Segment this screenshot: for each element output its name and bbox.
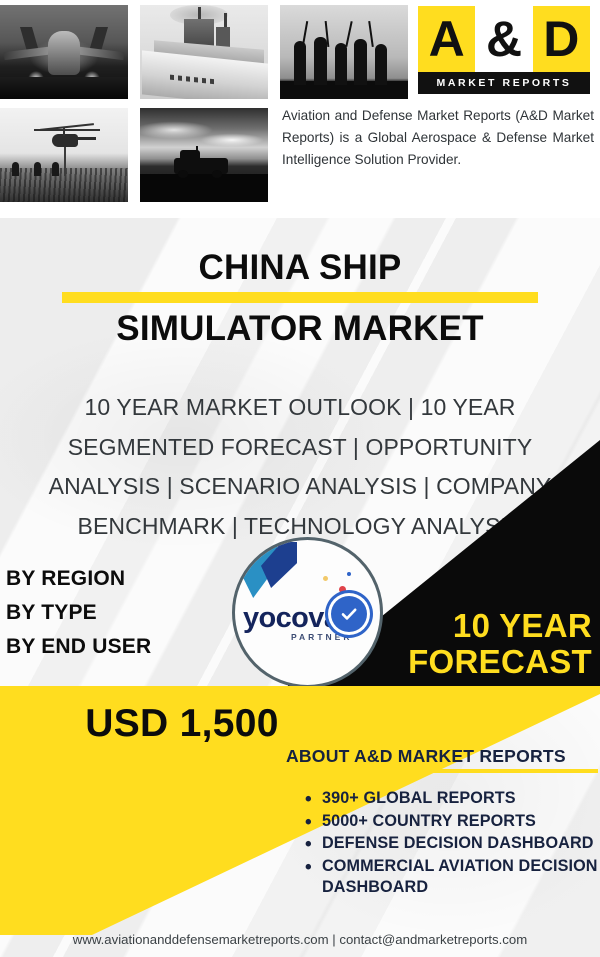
cloud-layer — [140, 116, 268, 152]
ad-market-reports-logo: A & D MARKET REPORTS — [418, 6, 590, 94]
segmentation-item-region: BY REGION — [6, 562, 151, 596]
report-title-line-1: CHINA SHIP — [0, 248, 600, 288]
logo-letter-ampersand: & — [475, 6, 532, 72]
ground-figure — [34, 162, 41, 176]
about-section-heading: ABOUT A&D MARKET REPORTS — [286, 746, 598, 767]
helicopter-tail-boom — [74, 137, 96, 140]
confetti-dot-red — [339, 586, 346, 593]
carrier-deck — [0, 77, 128, 99]
yocova-partner-badge: yocova PARTNER — [232, 537, 383, 688]
forecast-line-2: FORECAST — [340, 644, 592, 680]
segmentation-item-end-user: BY END USER — [6, 630, 151, 664]
soldier-silhouette — [375, 44, 387, 85]
title-divider-bar — [62, 292, 538, 303]
soldier-silhouette — [294, 41, 306, 85]
yocova-confetti-dots — [319, 572, 355, 594]
rappel-rope — [64, 146, 66, 176]
photo-collage-band: A & D MARKET REPORTS Aviation and Defens… — [0, 0, 600, 218]
vehicle-wheel — [212, 170, 222, 178]
logo-letter-d: D — [533, 6, 590, 72]
about-heading-underline — [284, 769, 598, 773]
fighter-jet-photo — [0, 5, 128, 99]
soldier-silhouette — [335, 43, 347, 85]
about-bullet-item: DEFENSE DECISION DASHBOARD — [322, 833, 600, 855]
report-title-line-2: SIMULATOR MARKET — [0, 309, 600, 349]
logo-letter-a: A — [418, 6, 475, 72]
terrain-foreground — [140, 174, 268, 202]
jet-fuselage — [48, 31, 80, 75]
soldier-silhouette — [354, 39, 367, 85]
naval-warship-photo — [140, 5, 268, 99]
price-value: USD 1,500 — [0, 702, 364, 746]
helicopter-body — [52, 134, 78, 147]
logo-letter-blocks: A & D — [418, 6, 590, 72]
soldiers-silhouette-photo — [280, 5, 408, 99]
logo-tagline-bar: MARKET REPORTS — [418, 72, 590, 94]
soldier-silhouette — [314, 37, 327, 85]
rifle-icon — [345, 21, 352, 47]
about-bullet-item: 5000+ COUNTRY REPORTS — [322, 811, 600, 833]
about-bullet-list: 390+ GLOBAL REPORTS 5000+ COUNTRY REPORT… — [300, 788, 600, 900]
confetti-dot-blue — [347, 572, 351, 576]
military-helicopter-photo — [0, 108, 128, 202]
rifle-icon — [368, 21, 374, 47]
ground-figure — [52, 162, 59, 176]
company-intro-paragraph: Aviation and Defense Market Reports (A&D… — [282, 105, 594, 171]
check-badge-icon — [331, 596, 367, 632]
about-bullet-item: 390+ GLOBAL REPORTS — [322, 788, 600, 810]
segmentation-item-type: BY TYPE — [6, 596, 151, 630]
about-bullet-item: COMMERCIAL AVIATION DECISION DASHBOARD — [322, 856, 600, 899]
vehicle-wheel — [178, 170, 188, 178]
confetti-dot-gold — [323, 576, 328, 581]
armored-vehicle-photo — [140, 108, 268, 202]
report-cover-poster: A & D MARKET REPORTS Aviation and Defens… — [0, 0, 600, 957]
yocova-partner-label: PARTNER — [291, 632, 352, 642]
forecast-line-1: 10 YEAR — [453, 607, 592, 644]
footer-contact-line: www.aviationanddefensemarketreports.com … — [0, 932, 600, 947]
segmentation-list: BY REGION BY TYPE BY END USER — [6, 562, 151, 664]
logo-tagline-text: MARKET REPORTS — [437, 77, 572, 89]
ground-figure — [12, 162, 19, 176]
